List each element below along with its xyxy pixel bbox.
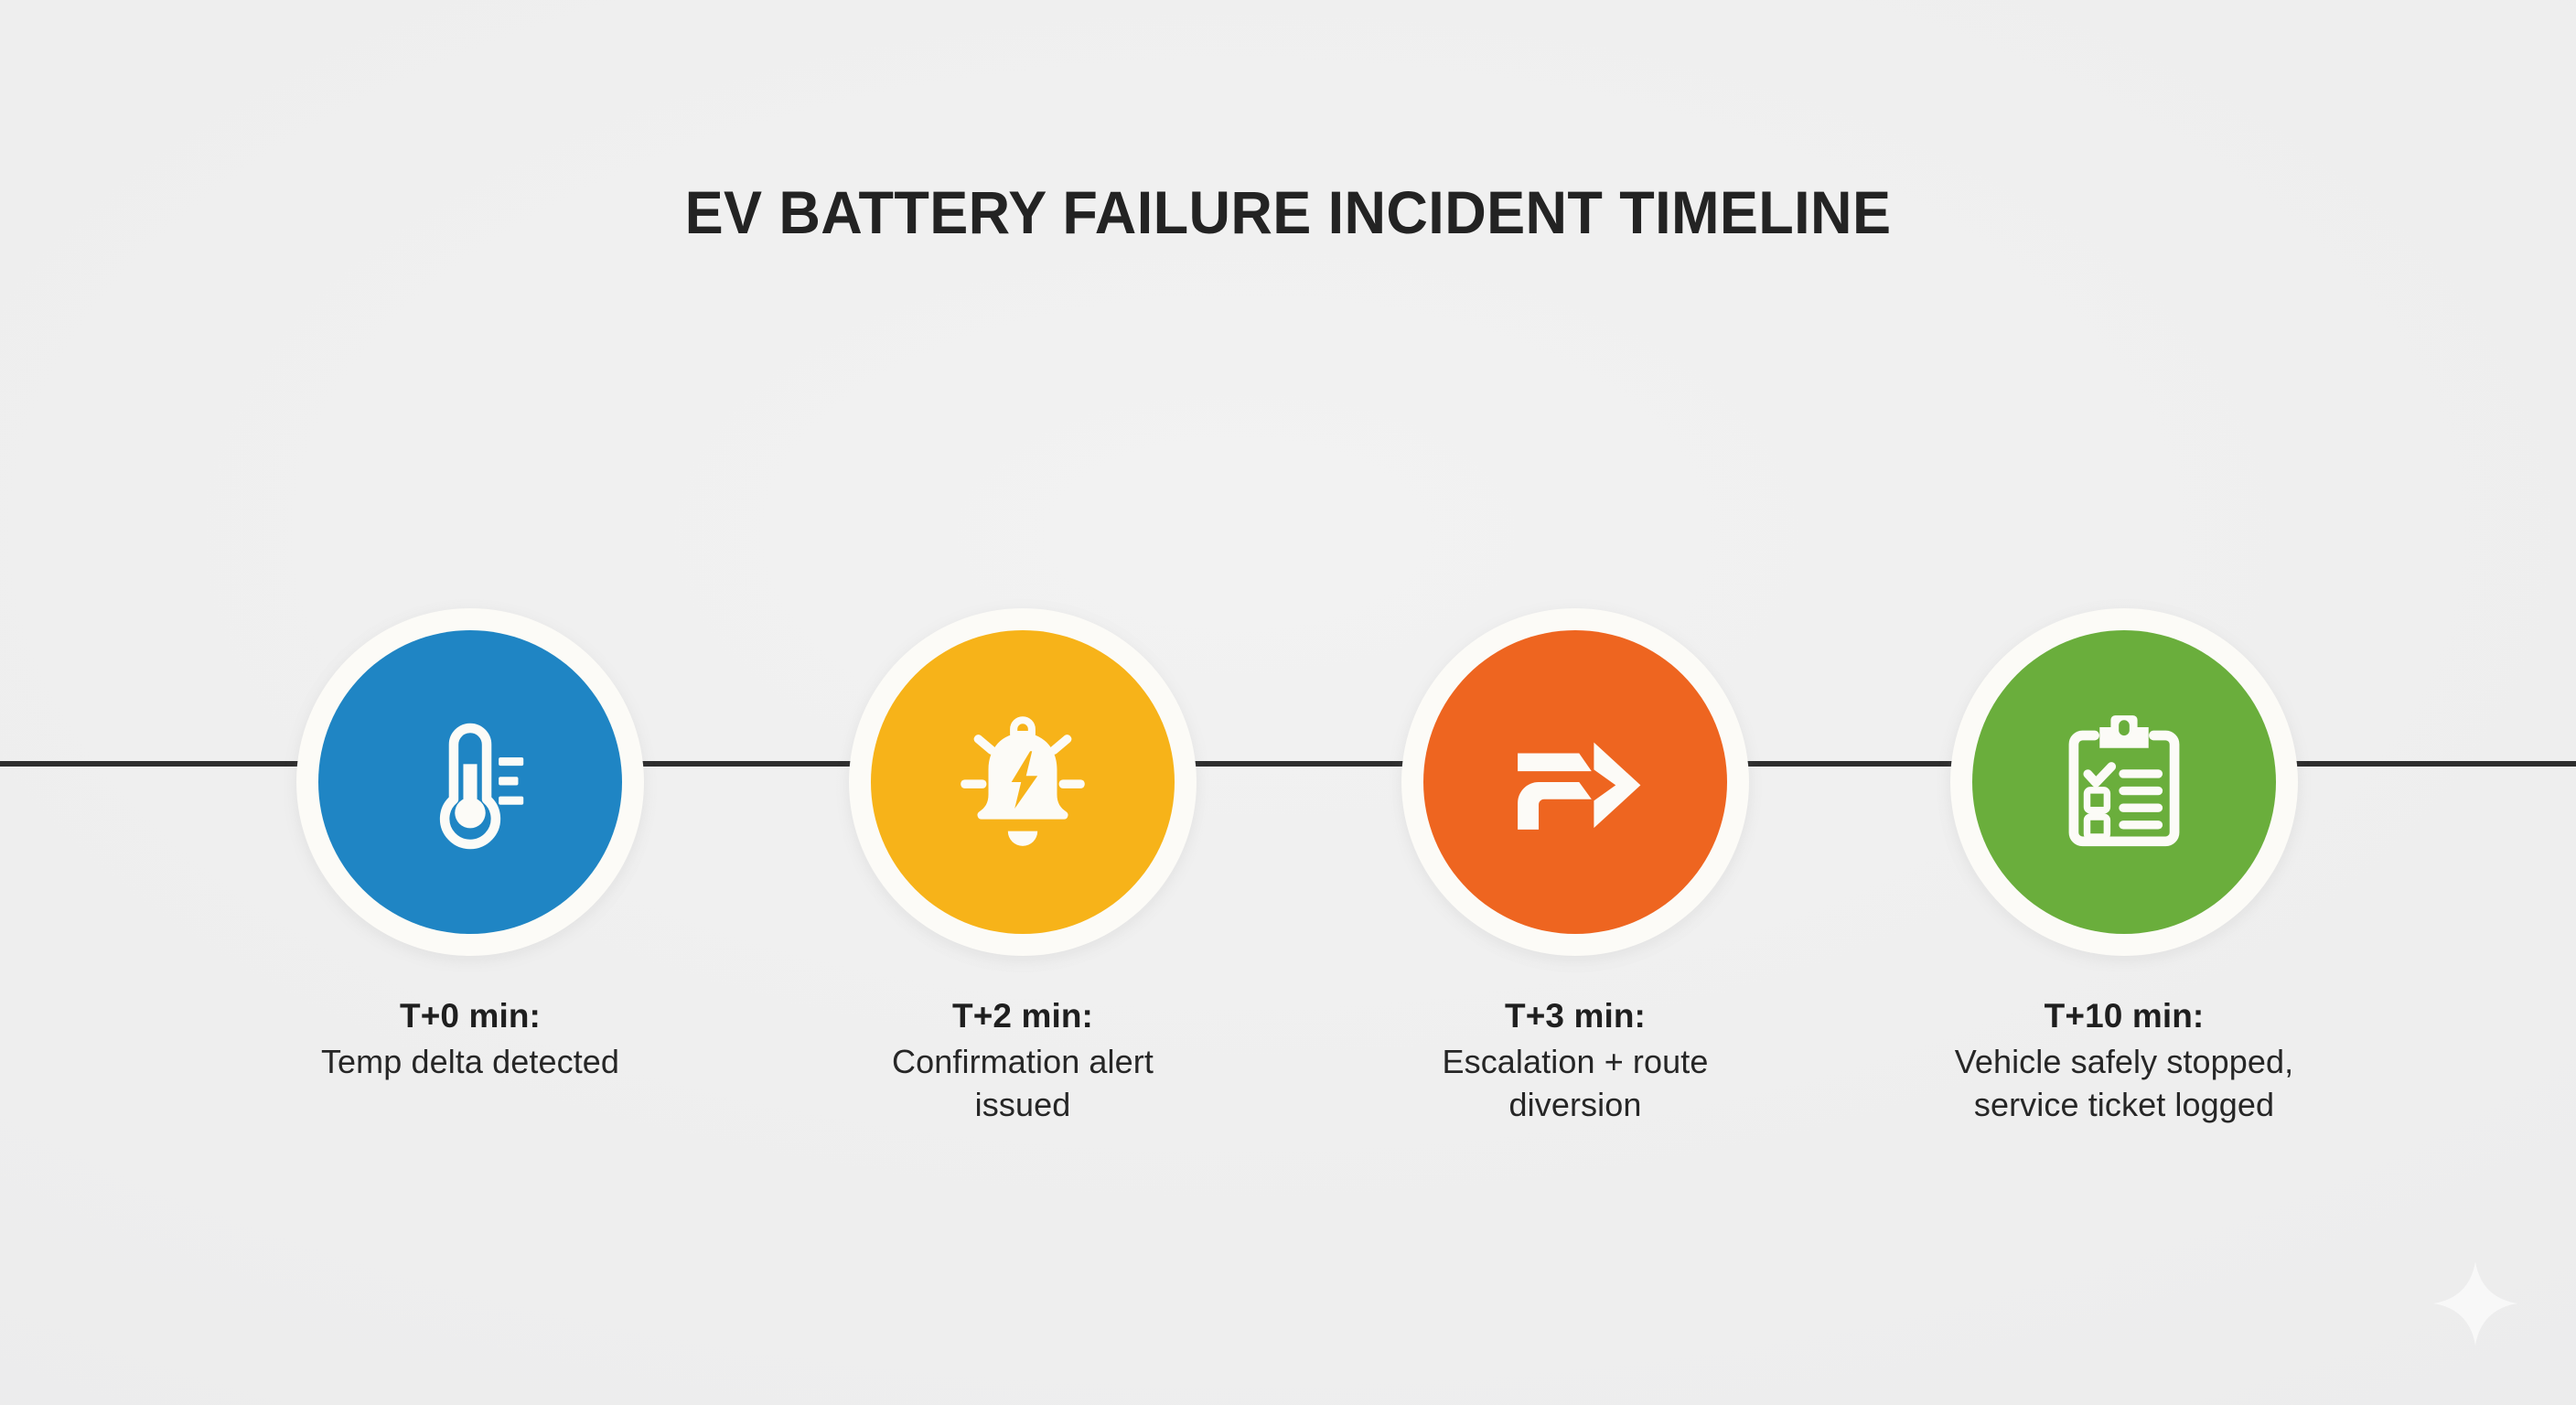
timeline-step[interactable]: T+0 min: Temp delta detected xyxy=(296,608,644,1084)
step-caption: T+2 min: Confirmation alert issued xyxy=(849,994,1197,1127)
step-time-label: T+0 min: xyxy=(296,994,644,1037)
route-diversion-icon xyxy=(1497,704,1653,860)
step-description: Temp delta detected xyxy=(278,1041,662,1084)
step-caption: T+10 min: Vehicle safely stopped, servic… xyxy=(1950,994,2298,1127)
timeline-node[interactable] xyxy=(296,608,644,956)
step-time-label: T+2 min: xyxy=(849,994,1197,1037)
step-description: Escalation + route diversion xyxy=(1429,1041,1722,1127)
timeline-step[interactable]: T+3 min: Escalation + route diversion xyxy=(1401,608,1749,1127)
clipboard-checklist-icon xyxy=(2050,708,2198,856)
timeline-steps: T+0 min: Temp delta detected xyxy=(0,0,2576,1405)
step-caption: T+0 min: Temp delta detected xyxy=(296,994,644,1084)
step-caption: T+3 min: Escalation + route diversion xyxy=(1401,994,1749,1127)
timeline-node[interactable] xyxy=(849,608,1197,956)
step-time-label: T+3 min: xyxy=(1401,994,1749,1037)
sparkle-icon xyxy=(2430,1258,2521,1349)
timeline-node[interactable] xyxy=(1950,608,2298,956)
timeline-step[interactable]: T+10 min: Vehicle safely stopped, servic… xyxy=(1950,608,2298,1127)
step-time-label: T+10 min: xyxy=(1950,994,2298,1037)
timeline-step[interactable]: T+2 min: Confirmation alert issued xyxy=(849,608,1197,1127)
node-disc xyxy=(1972,630,2276,934)
node-disc xyxy=(871,630,1175,934)
thermometer-icon xyxy=(395,707,545,857)
step-description: Confirmation alert issued xyxy=(885,1041,1160,1127)
node-disc xyxy=(1423,630,1727,934)
infographic-canvas: EV BATTERY FAILURE INCIDENT TIMELINE xyxy=(0,0,2576,1405)
node-disc xyxy=(318,630,622,934)
timeline-node[interactable] xyxy=(1401,608,1749,956)
alert-bell-icon xyxy=(942,702,1103,863)
step-description: Vehicle safely stopped, service ticket l… xyxy=(1932,1041,2316,1127)
